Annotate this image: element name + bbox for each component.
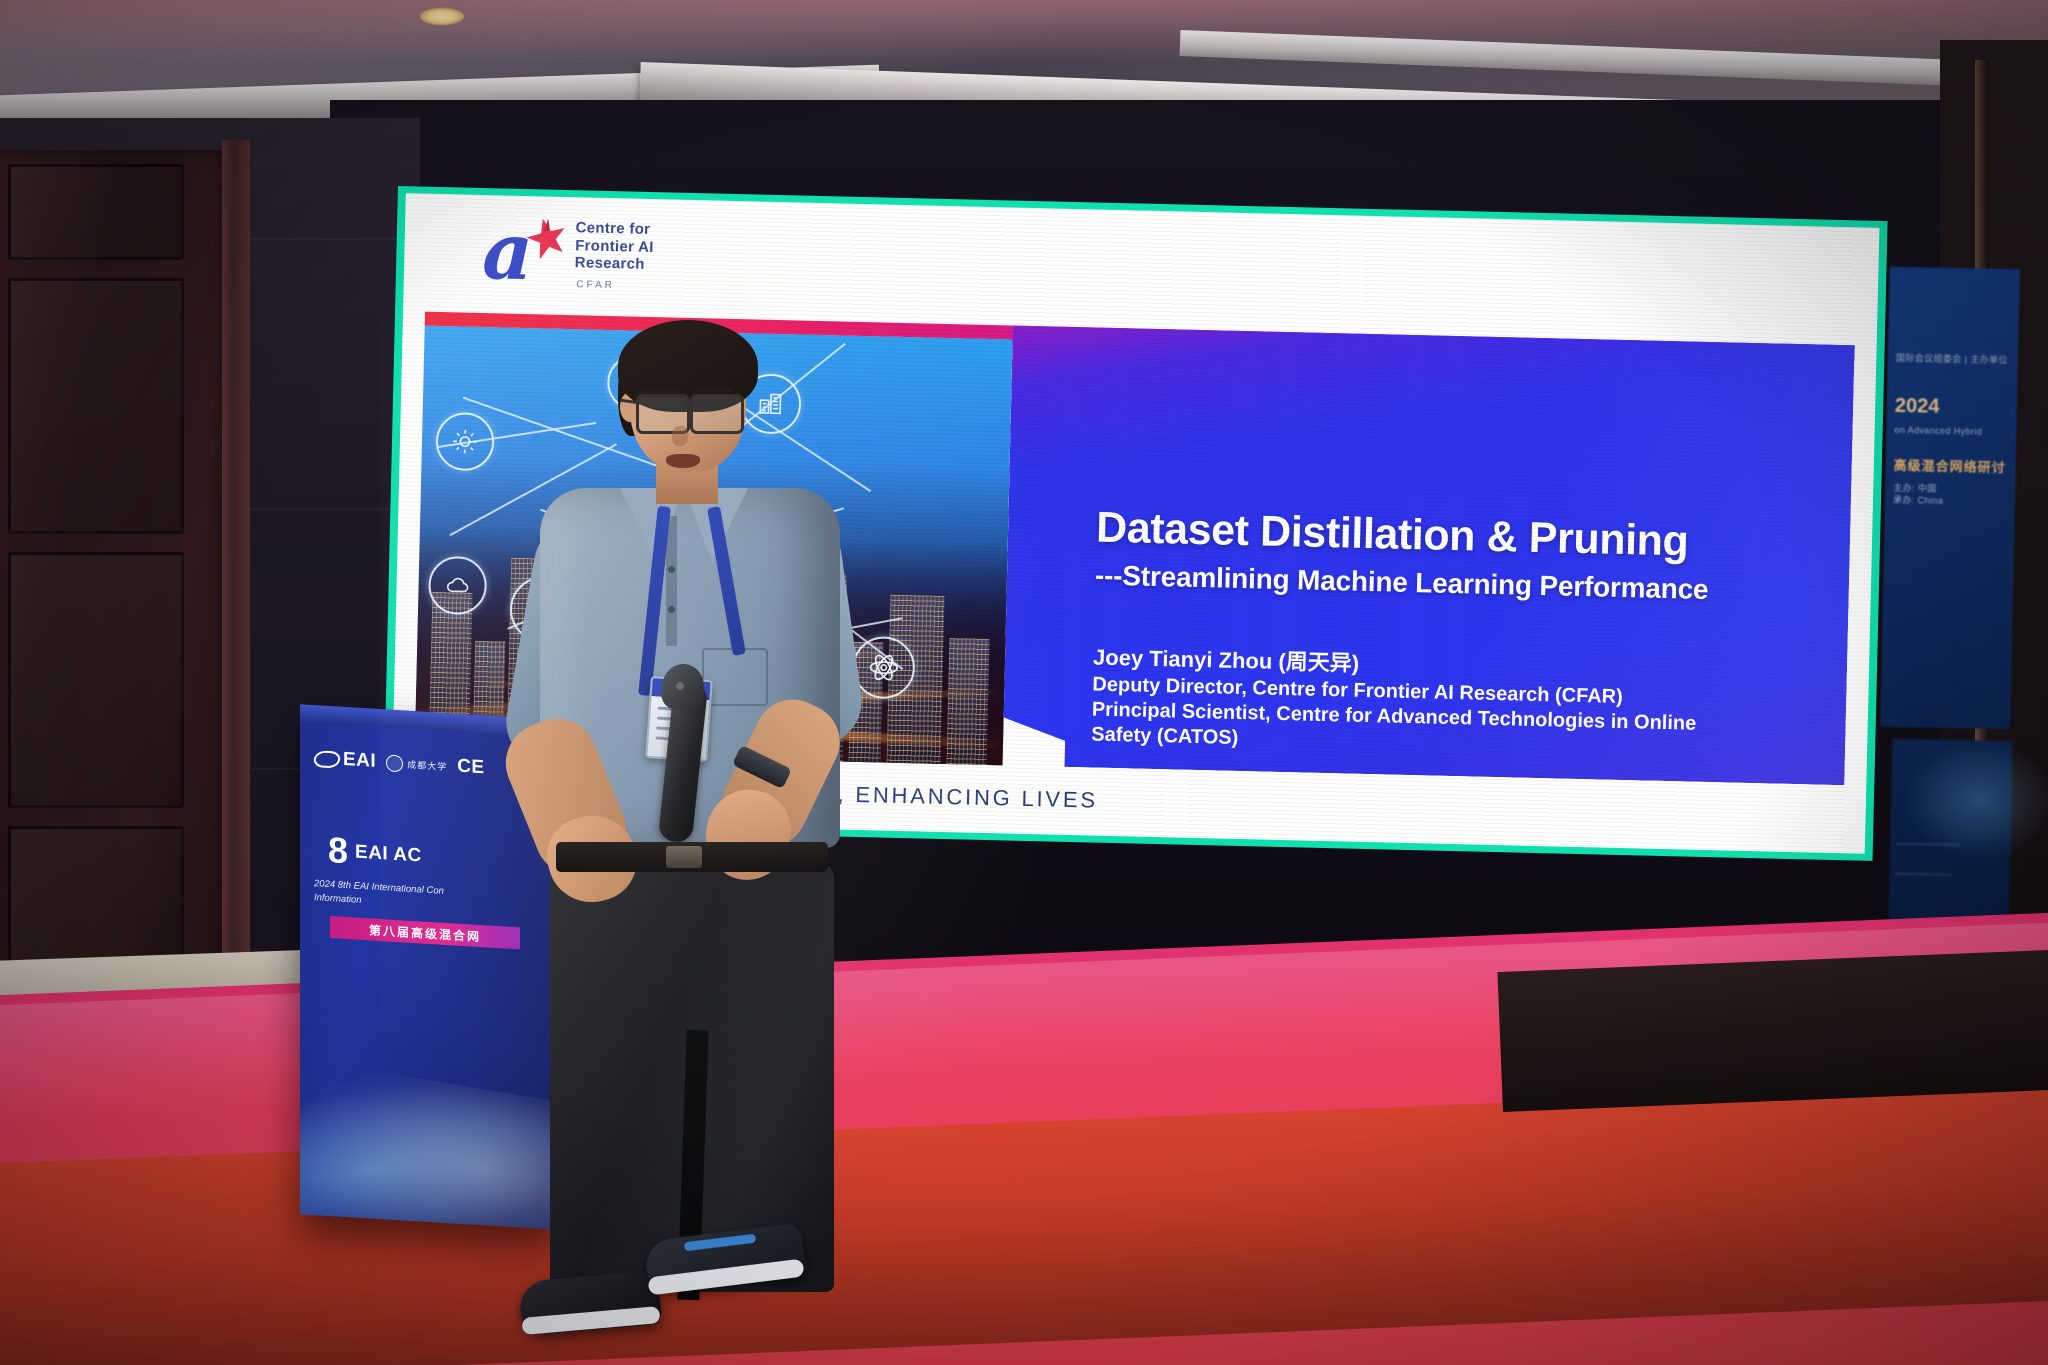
- shirt-button: [668, 566, 675, 573]
- logo-org-line-2: Frontier AI: [575, 237, 654, 257]
- podium-logo-row: EAI 成都大学 CE: [314, 747, 485, 779]
- eyebrow-right: [694, 387, 734, 392]
- eai-logo: EAI: [314, 747, 376, 773]
- shirt-pocket: [702, 648, 768, 706]
- logo-abbreviation: CFAR: [576, 279, 653, 292]
- background-event-banner: 国际会议组委会 | 主办单位 2024 on Advanced Hybrid 高…: [1880, 267, 2020, 730]
- downlight-icon: [420, 8, 464, 25]
- conference-short: EAI AC: [355, 842, 422, 872]
- banner-year: 2024: [1895, 395, 1940, 419]
- banner-small-top: 国际会议组委会 | 主办单位: [1896, 351, 2008, 366]
- university-seal-icon: [386, 754, 403, 772]
- podium-chinese-text: 第八届高级混合网: [369, 921, 481, 945]
- wooden-door: [0, 150, 240, 990]
- logo-org-line-3: Research: [575, 255, 654, 275]
- banner-footnote-2: 承办: China: [1893, 493, 1943, 507]
- presenter-block: Joey Tianyi Zhou (周天异) Deputy Director, …: [1091, 644, 1853, 766]
- star-icon: [523, 217, 568, 264]
- glasses-bridge: [683, 406, 693, 409]
- logo-org-line-1: Centre for: [575, 219, 654, 239]
- conference-photo: 国际会议组委会 | 主办单位 2024 on Advanced Hybrid 高…: [0, 0, 2048, 1365]
- speaker-person: [470, 330, 900, 1290]
- mouth: [666, 454, 700, 468]
- eai-mark-icon: [312, 750, 342, 768]
- banner-english: on Advanced Hybrid: [1894, 425, 1982, 437]
- door-casing: [222, 140, 250, 1000]
- university-name: 成都大学: [407, 757, 447, 772]
- eai-logo-text: EAI: [343, 749, 376, 773]
- shirt-button: [668, 606, 675, 613]
- background-stage-glow: [1905, 740, 2048, 860]
- university-logo: 成都大学: [386, 754, 447, 775]
- nose: [672, 426, 688, 446]
- glasses-lens-right: [690, 394, 744, 434]
- floor-shadow: [1497, 948, 2048, 1112]
- banner-chinese: 高级混合网络研讨: [1893, 455, 2005, 476]
- podium-conference-mark: 8 EAI AC: [328, 834, 422, 872]
- cfar-logo: a Centre for Frontier AI Research CFAR: [482, 217, 655, 292]
- conference-number: 8: [328, 834, 348, 868]
- belt-buckle: [666, 846, 702, 868]
- eyebrow-left: [640, 388, 680, 393]
